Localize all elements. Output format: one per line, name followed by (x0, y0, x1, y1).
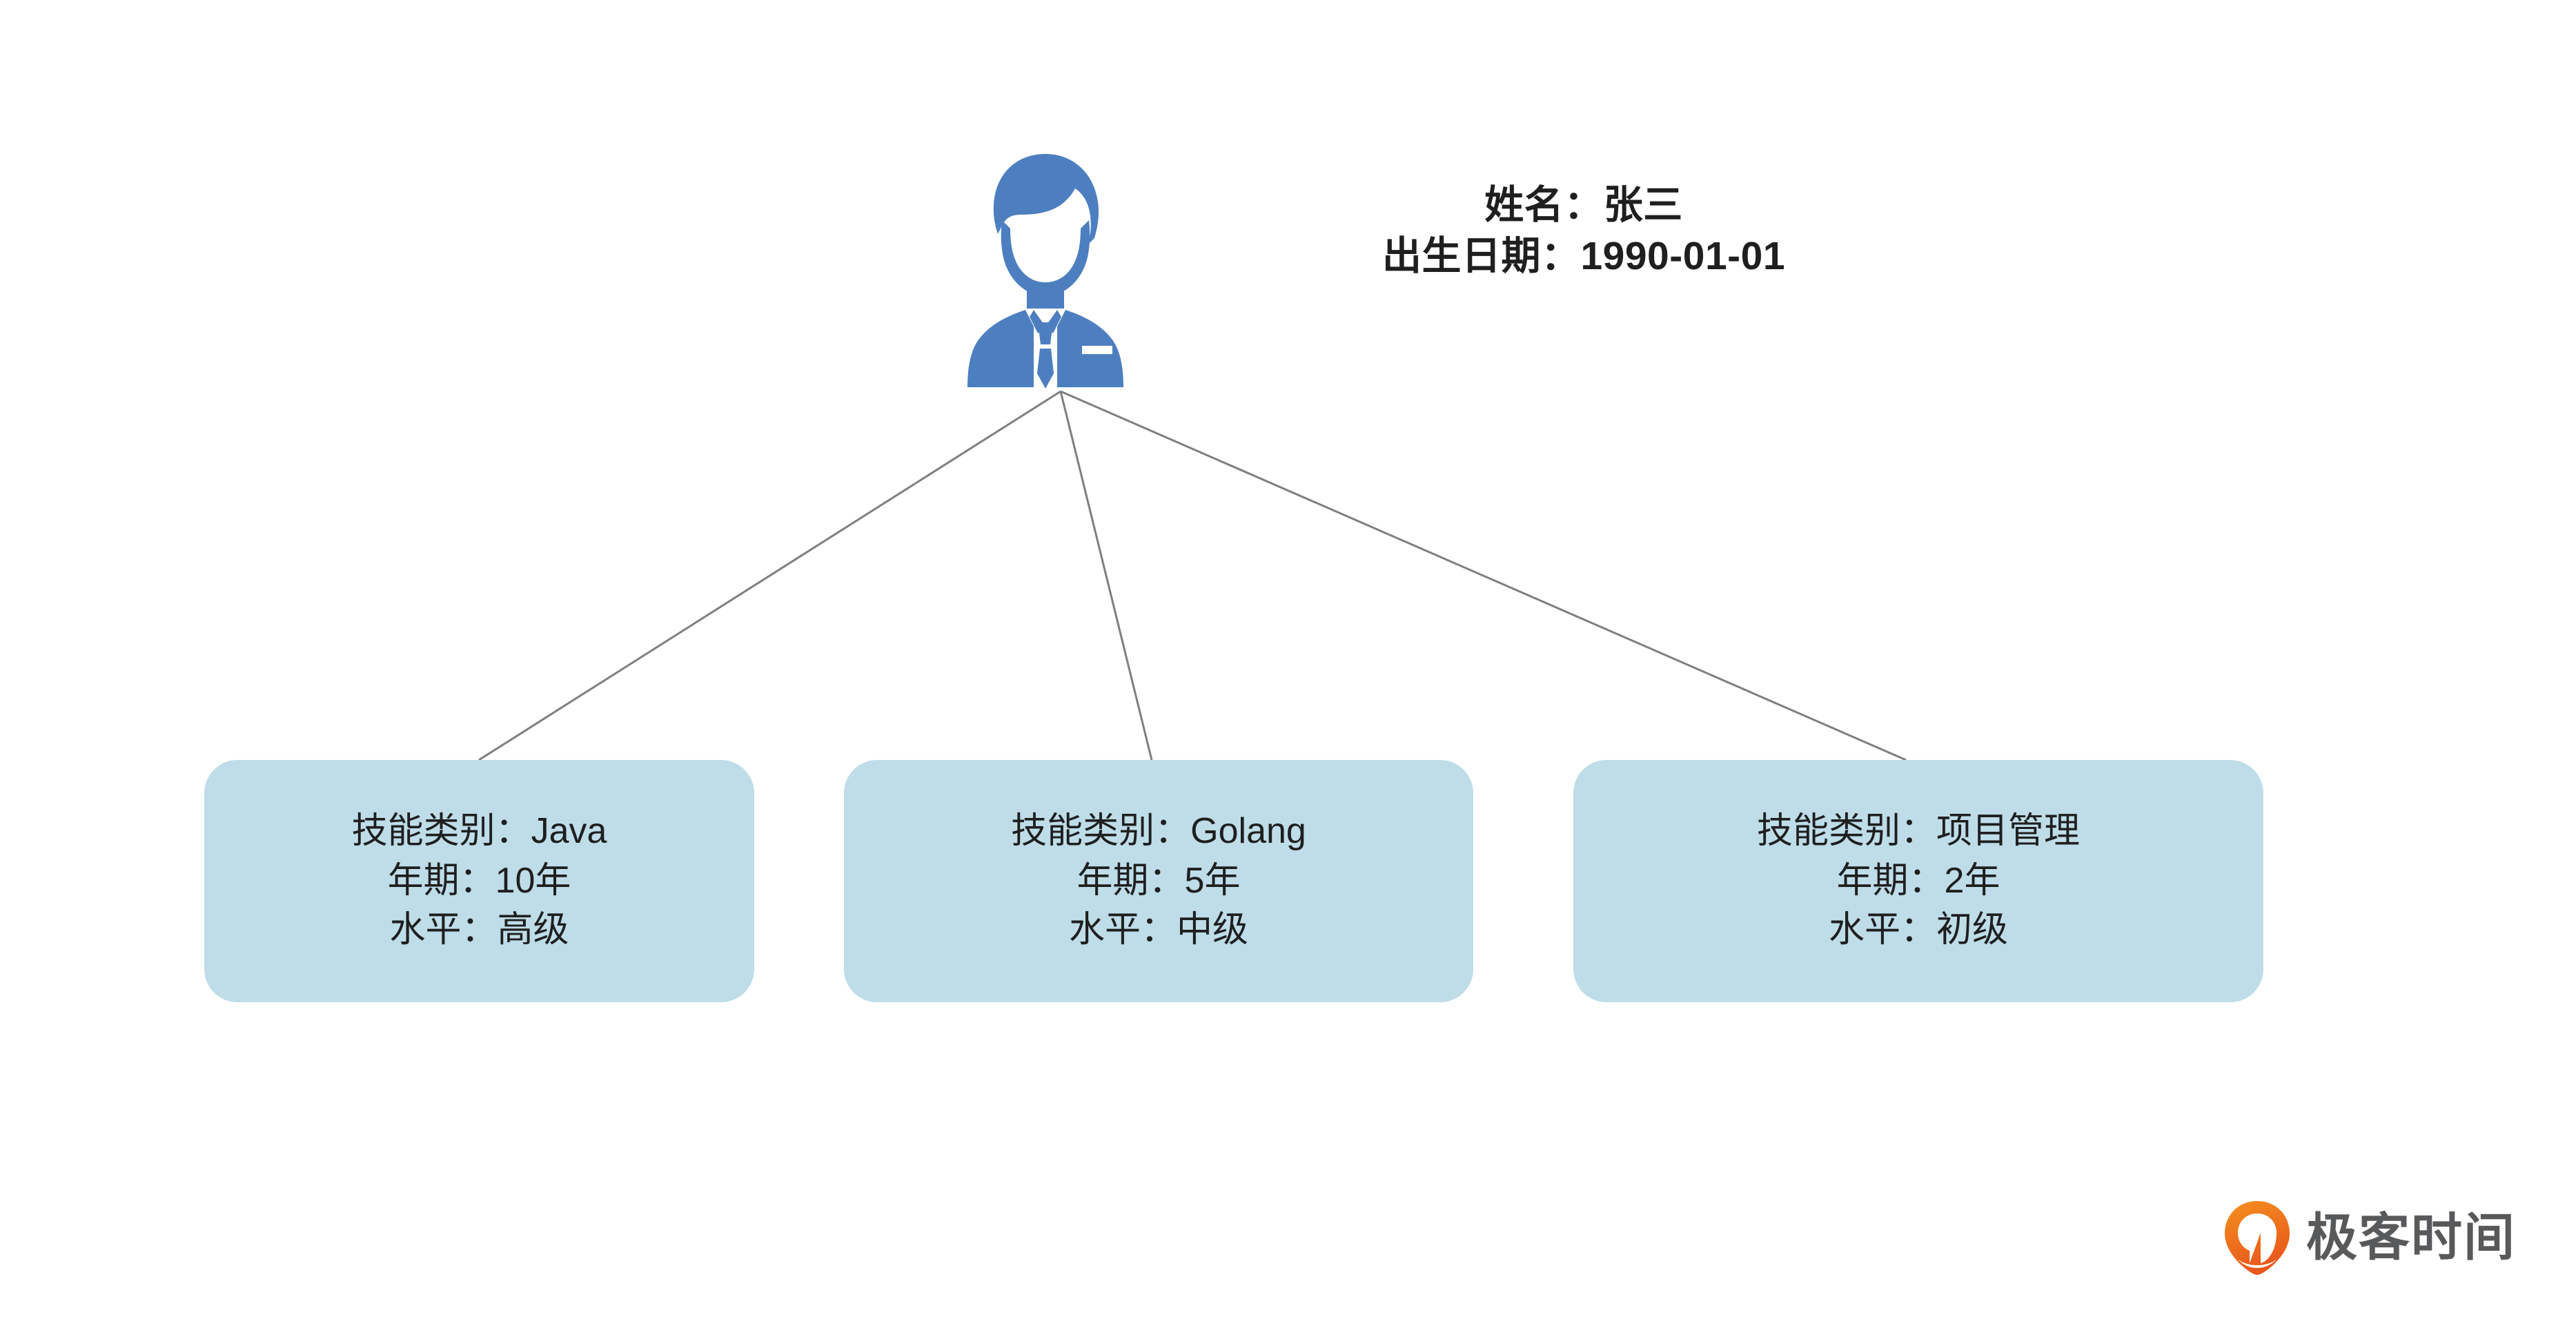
skill-years-line: 年期：5年 (1077, 857, 1241, 906)
brand-name: 极客时间 (2306, 1212, 2516, 1263)
diagram-canvas: 姓名：张三 出生日期：1990-01-01 技能类别：Java 年期：10年 水… (0, 0, 2576, 1317)
skill-category-line: 技能类别：项目管理 (1757, 807, 2080, 857)
connector-line-1 (1061, 391, 1152, 760)
connector-line-2 (1061, 391, 1906, 760)
skill-card[interactable]: 技能类别：项目管理 年期：2年 水平：初级 (1573, 760, 2263, 1002)
skill-level-line: 水平：高级 (389, 906, 569, 955)
skill-years-line: 年期：10年 (388, 857, 571, 906)
person-birthdate-line: 出生日期：1990-01-01 (1125, 231, 2043, 282)
businessman-avatar-icon (966, 148, 1125, 390)
skill-card[interactable]: 技能类别：Golang 年期：5年 水平：中级 (844, 760, 1473, 1002)
skill-level-line: 水平：初级 (1829, 906, 2008, 955)
person-name-line: 姓名：张三 (1125, 179, 2043, 231)
connector-line-0 (479, 391, 1061, 760)
skill-years-line: 年期：2年 (1837, 857, 2000, 906)
person-node: 姓名：张三 出生日期：1990-01-01 (966, 148, 2043, 397)
skill-category-line: 技能类别：Golang (1011, 807, 1306, 857)
person-info: 姓名：张三 出生日期：1990-01-01 (1125, 148, 2043, 282)
skill-category-line: 技能类别：Java (352, 807, 607, 857)
skill-level-line: 水平：中级 (1069, 906, 1248, 955)
geektime-pin-icon (2223, 1200, 2291, 1276)
brand-logo: 极客时间 (2223, 1200, 2516, 1276)
skill-card[interactable]: 技能类别：Java 年期：10年 水平：高级 (204, 760, 754, 1002)
